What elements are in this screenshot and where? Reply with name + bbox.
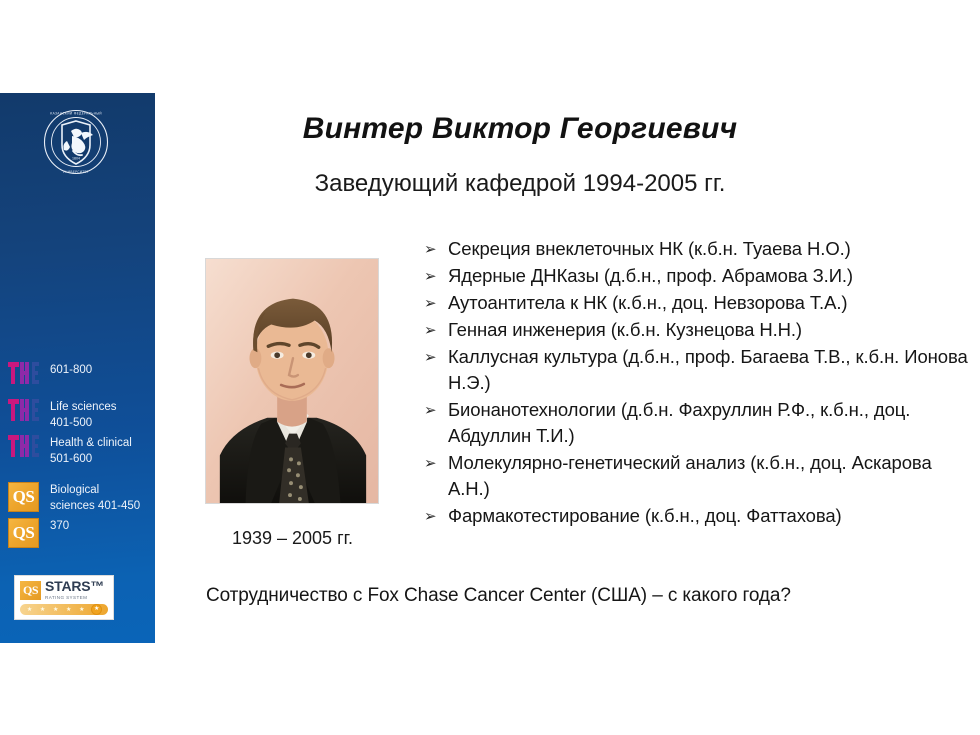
list-item-label: Фармакотестирование (к.б.н., доц. Фаттах… (448, 503, 842, 529)
ranking-row: 601-800 (8, 361, 155, 384)
star-icon: ★ (53, 607, 58, 613)
qs-stars-subtitle: RATING SYSTEM (45, 594, 104, 601)
list-item-label: Генная инженерия (к.б.н. Кузнецова Н.Н.) (448, 317, 802, 343)
arrow-bullet-icon: ➢ (424, 290, 448, 316)
star-icon: ★ (40, 607, 45, 613)
qs-logo-icon: QS (8, 518, 39, 548)
qs-logo-icon: QS (8, 482, 39, 512)
photo-caption: 1939 – 2005 гг. (190, 528, 395, 549)
qs-stars-badge: QS STARS™ RATING SYSTEM ★ ★ ★ ★ ★ ★ (14, 575, 114, 620)
slide-canvas: КАЗАНСКИЙ ФЕДЕРАЛЬНЫЙ УНИВЕРСИТЕТ 1804 (0, 0, 980, 735)
star-icon: ★ (79, 607, 84, 613)
arrow-bullet-icon: ➢ (424, 503, 448, 529)
star-icon: ★ (27, 607, 32, 613)
footer-question: Сотрудничество с Fox Chase Cancer Center… (206, 585, 966, 607)
svg-text:УНИВЕРСИТЕТ: УНИВЕРСИТЕТ (63, 170, 89, 174)
list-item-label: Молекулярно-генетический анализ (к.б.н.,… (448, 450, 972, 502)
qs-stars-title: STARS™ (45, 580, 104, 593)
page-title: Винтер Виктор Георгиевич (200, 112, 840, 146)
ranking-row: Life sciences 401-500 (8, 398, 155, 431)
arrow-bullet-icon: ➢ (424, 263, 448, 289)
arrow-bullet-icon: ➢ (424, 397, 448, 423)
list-item: ➢ Секреция внеклеточных НК (к.б.н. Туаев… (424, 236, 972, 262)
research-topics-list: ➢ Секреция внеклеточных НК (к.б.н. Туаев… (424, 236, 972, 530)
portrait-photo (205, 258, 379, 504)
ranking-label: Health & clinical 501-600 (50, 434, 132, 467)
qs-stars-rating-bar: ★ ★ ★ ★ ★ ★ (20, 604, 108, 615)
list-item-label: Ядерные ДНКазы (д.б.н., проф. Абрамова З… (448, 263, 853, 289)
ranking-row: Health & clinical 501-600 (8, 434, 155, 467)
star-icon-highlighted: ★ (92, 605, 101, 614)
rankings-list: 601-800 Life sciences 401-500 Health & c… (8, 361, 155, 551)
page-subtitle: Заведующий кафедрой 1994-2005 гг. (190, 170, 850, 198)
ranking-row: QS Biological sciences 401-450 (8, 481, 155, 514)
list-item: ➢ Ядерные ДНКазы (д.б.н., проф. Абрамова… (424, 263, 972, 289)
qs-logo-icon: QS (20, 581, 41, 600)
the-logo-icon (8, 399, 39, 421)
list-item-label: Секреция внеклеточных НК (к.б.н. Туаева … (448, 236, 851, 262)
arrow-bullet-icon: ➢ (424, 317, 448, 343)
ranking-label: Biological sciences 401-450 (50, 481, 140, 514)
list-item: ➢ Аутоантитела к НК (к.б.н., доц. Невзор… (424, 290, 972, 316)
svg-text:1804: 1804 (72, 157, 80, 161)
ranking-row: QS 370 (8, 517, 155, 548)
the-logo-icon (8, 362, 39, 384)
list-item: ➢ Бионанотехнологии (д.б.н. Фахруллин Р.… (424, 397, 972, 449)
list-item-label: Бионанотехнологии (д.б.н. Фахруллин Р.Ф.… (448, 397, 972, 449)
ranking-label: 370 (50, 517, 69, 535)
list-item: ➢ Фармакотестирование (к.б.н., доц. Фатт… (424, 503, 972, 529)
arrow-bullet-icon: ➢ (424, 236, 448, 262)
ranking-label: 601-800 (50, 361, 92, 379)
list-item: ➢ Генная инженерия (к.б.н. Кузнецова Н.Н… (424, 317, 972, 343)
ranking-label: Life sciences 401-500 (50, 398, 116, 431)
university-seal-icon: КАЗАНСКИЙ ФЕДЕРАЛЬНЫЙ УНИВЕРСИТЕТ 1804 (43, 109, 109, 175)
the-logo-icon (8, 435, 39, 457)
list-item: ➢ Каллусная культура (д.б.н., проф. Бага… (424, 344, 972, 396)
arrow-bullet-icon: ➢ (424, 450, 448, 476)
list-item-label: Каллусная культура (д.б.н., проф. Багаев… (448, 344, 972, 396)
brand-sidebar: КАЗАНСКИЙ ФЕДЕРАЛЬНЫЙ УНИВЕРСИТЕТ 1804 (0, 93, 155, 643)
star-icon: ★ (66, 607, 71, 613)
svg-text:КАЗАНСКИЙ ФЕДЕРАЛЬНЫЙ: КАЗАНСКИЙ ФЕДЕРАЛЬНЫЙ (50, 110, 102, 115)
list-item-label: Аутоантитела к НК (к.б.н., доц. Невзоров… (448, 290, 847, 316)
list-item: ➢ Молекулярно-генетический анализ (к.б.н… (424, 450, 972, 502)
arrow-bullet-icon: ➢ (424, 344, 448, 370)
